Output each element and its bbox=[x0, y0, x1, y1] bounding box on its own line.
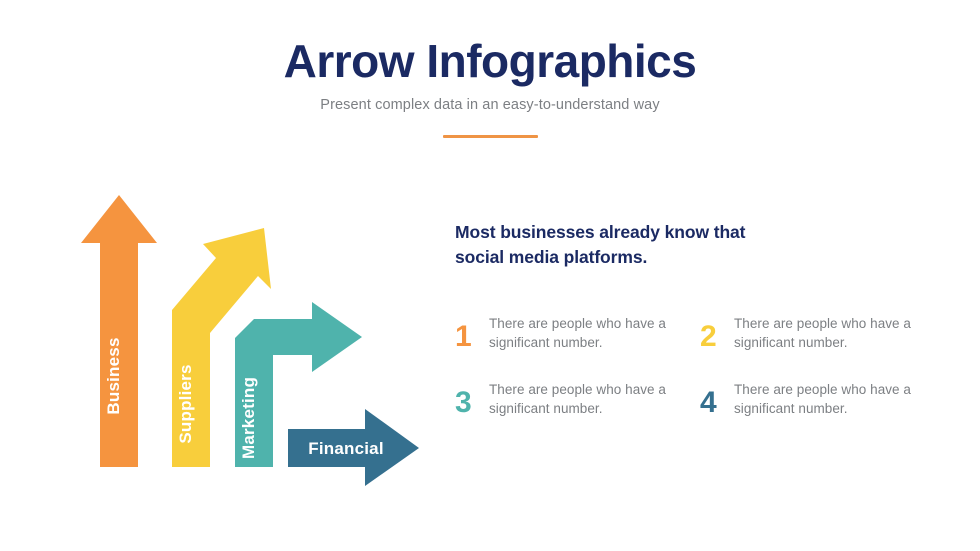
item-text: There are people who have a significant … bbox=[734, 314, 945, 352]
arrow-financial[interactable]: Financial bbox=[288, 409, 419, 486]
arrow-financial-label: Financial bbox=[308, 439, 384, 458]
arrow-diagram: Business Suppliers Marketing Financial bbox=[74, 186, 439, 486]
item-text: There are people who have a significant … bbox=[734, 380, 945, 418]
content-heading: Most businesses already know that social… bbox=[455, 220, 925, 270]
arrow-business-label: Business bbox=[104, 337, 123, 414]
item-number: 4 bbox=[700, 380, 734, 418]
item-number: 3 bbox=[455, 380, 489, 418]
list-item[interactable]: 3 There are people who have a significan… bbox=[455, 380, 700, 418]
arrow-business[interactable]: Business bbox=[81, 195, 157, 467]
list-item[interactable]: 1 There are people who have a significan… bbox=[455, 314, 700, 352]
arrow-marketing-label: Marketing bbox=[239, 377, 258, 459]
item-number: 2 bbox=[700, 314, 734, 352]
list-item[interactable]: 2 There are people who have a significan… bbox=[700, 314, 945, 352]
item-text: There are people who have a significant … bbox=[489, 380, 700, 418]
slide-header: Arrow Infographics Present complex data … bbox=[0, 0, 980, 138]
content-heading-line-2: social media platforms. bbox=[455, 247, 647, 267]
page-title: Arrow Infographics bbox=[0, 0, 980, 88]
accent-divider bbox=[443, 135, 538, 139]
item-number: 1 bbox=[455, 314, 489, 352]
item-text: There are people who have a significant … bbox=[489, 314, 700, 352]
list-item[interactable]: 4 There are people who have a significan… bbox=[700, 380, 945, 418]
numbered-items-grid: 1 There are people who have a significan… bbox=[455, 314, 925, 419]
arrow-business-shape bbox=[81, 195, 157, 467]
content-panel: Most businesses already know that social… bbox=[455, 220, 925, 418]
arrow-suppliers-label: Suppliers bbox=[176, 364, 195, 443]
page-subtitle: Present complex data in an easy-to-under… bbox=[0, 88, 980, 113]
content-heading-line-1: Most businesses already know that bbox=[455, 222, 745, 242]
